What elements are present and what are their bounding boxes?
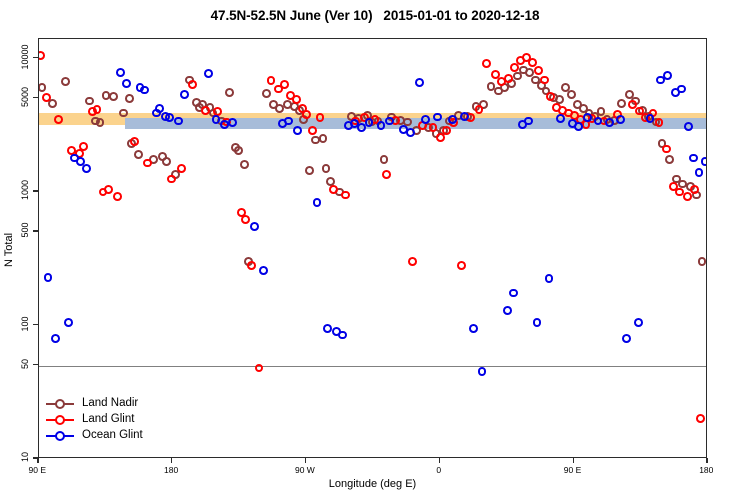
data-point <box>617 99 626 108</box>
data-point <box>504 74 513 83</box>
x-tick-label: 180 <box>699 465 713 475</box>
data-point <box>341 191 350 200</box>
scatter-plot-figure: 47.5N-52.5N June (Ver 10) 2015-01-01 to … <box>0 0 750 500</box>
data-point <box>212 115 221 124</box>
data-point <box>51 334 60 343</box>
data-point <box>93 105 102 114</box>
data-point <box>104 185 113 194</box>
data-point <box>292 95 301 104</box>
legend-item-label: Land Glint <box>82 412 134 427</box>
data-point <box>234 146 243 155</box>
data-point <box>305 166 314 175</box>
data-point <box>162 157 171 166</box>
data-point <box>524 117 533 126</box>
y-tick-label: 1000 <box>20 180 30 200</box>
data-point <box>695 168 704 177</box>
data-point <box>406 128 415 137</box>
x-tick-label: 0 <box>436 465 441 475</box>
threshold-50 <box>39 366 706 367</box>
y-axis-label: N Total <box>3 233 15 267</box>
data-point <box>267 76 276 85</box>
data-point <box>64 318 73 327</box>
y-tick-label: 10 <box>20 452 30 462</box>
data-point <box>322 164 331 173</box>
data-point <box>663 71 672 80</box>
data-point <box>380 155 389 164</box>
data-point <box>684 122 693 131</box>
data-point <box>82 164 91 173</box>
chart-title: 47.5N-52.5N June (Ver 10) 2015-01-01 to … <box>0 8 750 23</box>
plot-area <box>38 38 707 458</box>
data-point <box>503 306 512 315</box>
x-tick-label: 180 <box>164 465 178 475</box>
data-point <box>421 115 430 124</box>
data-point <box>130 137 139 146</box>
data-point <box>280 80 289 89</box>
data-point <box>701 157 706 166</box>
y-tick-label: 10000 <box>20 44 30 69</box>
data-point <box>545 274 554 283</box>
data-point <box>188 80 197 89</box>
data-point <box>429 123 438 132</box>
y-tick-label: 50 <box>20 359 30 369</box>
data-point <box>122 79 131 88</box>
data-point <box>109 92 118 101</box>
data-point <box>533 318 542 327</box>
plot-clip <box>39 39 706 457</box>
data-point <box>509 289 518 298</box>
x-axis-label: Longitude (deg E) <box>38 478 707 490</box>
x-tick-label: 90 E <box>29 465 47 475</box>
legend-marker-icon <box>46 396 74 411</box>
data-point <box>54 115 63 124</box>
data-point <box>690 185 699 194</box>
legend-item-label: Land Nadir <box>82 396 138 411</box>
data-point <box>39 83 46 92</box>
data-point <box>329 185 338 194</box>
data-point <box>42 93 51 102</box>
data-point <box>665 155 674 164</box>
data-point <box>262 89 271 98</box>
data-point <box>302 110 311 119</box>
data-point <box>377 121 386 130</box>
data-point <box>85 97 94 106</box>
data-point <box>180 90 189 99</box>
data-point <box>241 215 250 224</box>
data-point <box>201 106 210 115</box>
data-point <box>259 266 268 275</box>
data-point <box>415 78 424 87</box>
data-point <box>125 94 134 103</box>
data-point <box>478 367 487 376</box>
data-point <box>382 170 391 179</box>
data-point <box>240 160 249 169</box>
data-point <box>683 192 692 201</box>
data-point <box>698 257 706 266</box>
data-point <box>460 112 469 121</box>
data-point <box>567 90 576 99</box>
data-point <box>167 175 176 184</box>
data-point <box>39 51 45 60</box>
data-point <box>677 85 686 94</box>
data-point <box>177 164 186 173</box>
data-point <box>442 126 451 135</box>
data-point <box>616 115 625 124</box>
data-point <box>113 192 122 201</box>
data-point <box>134 150 143 159</box>
data-point <box>482 59 491 68</box>
data-point <box>433 113 442 122</box>
data-point <box>140 86 149 95</box>
data-point <box>313 198 322 207</box>
data-point <box>534 66 543 75</box>
y-tick-label: 5000 <box>20 87 30 107</box>
legend-item-label: Ocean Glint <box>82 428 143 443</box>
data-point <box>225 88 234 97</box>
legend-marker-icon <box>46 412 74 427</box>
data-point <box>622 334 631 343</box>
x-tick-label: 90 W <box>295 465 315 475</box>
data-point <box>247 261 256 270</box>
data-point <box>546 92 555 101</box>
data-point <box>44 273 53 282</box>
data-point <box>228 118 237 127</box>
y-tick-label: 100 <box>20 316 30 331</box>
data-point <box>250 222 259 231</box>
data-point <box>408 257 417 266</box>
legend-marker-icon <box>46 428 74 443</box>
data-point <box>116 68 125 77</box>
data-point <box>96 118 105 127</box>
data-point <box>689 154 698 163</box>
y-tick-label: 500 <box>20 223 30 238</box>
data-point <box>540 76 549 85</box>
data-point <box>204 69 213 78</box>
data-point <box>448 115 457 124</box>
data-point <box>436 133 445 142</box>
data-point <box>293 126 302 135</box>
data-point <box>143 159 152 168</box>
data-point <box>469 324 478 333</box>
data-point <box>662 145 671 154</box>
data-point <box>255 364 264 373</box>
data-point <box>323 324 332 333</box>
data-point <box>338 331 347 340</box>
data-point <box>457 261 466 270</box>
data-point <box>319 134 328 143</box>
data-point <box>79 142 88 151</box>
data-point <box>634 318 643 327</box>
data-point <box>574 122 583 131</box>
data-point <box>308 126 317 135</box>
data-point <box>61 77 70 86</box>
data-point <box>696 414 705 423</box>
x-tick-label: 90 E <box>564 465 582 475</box>
